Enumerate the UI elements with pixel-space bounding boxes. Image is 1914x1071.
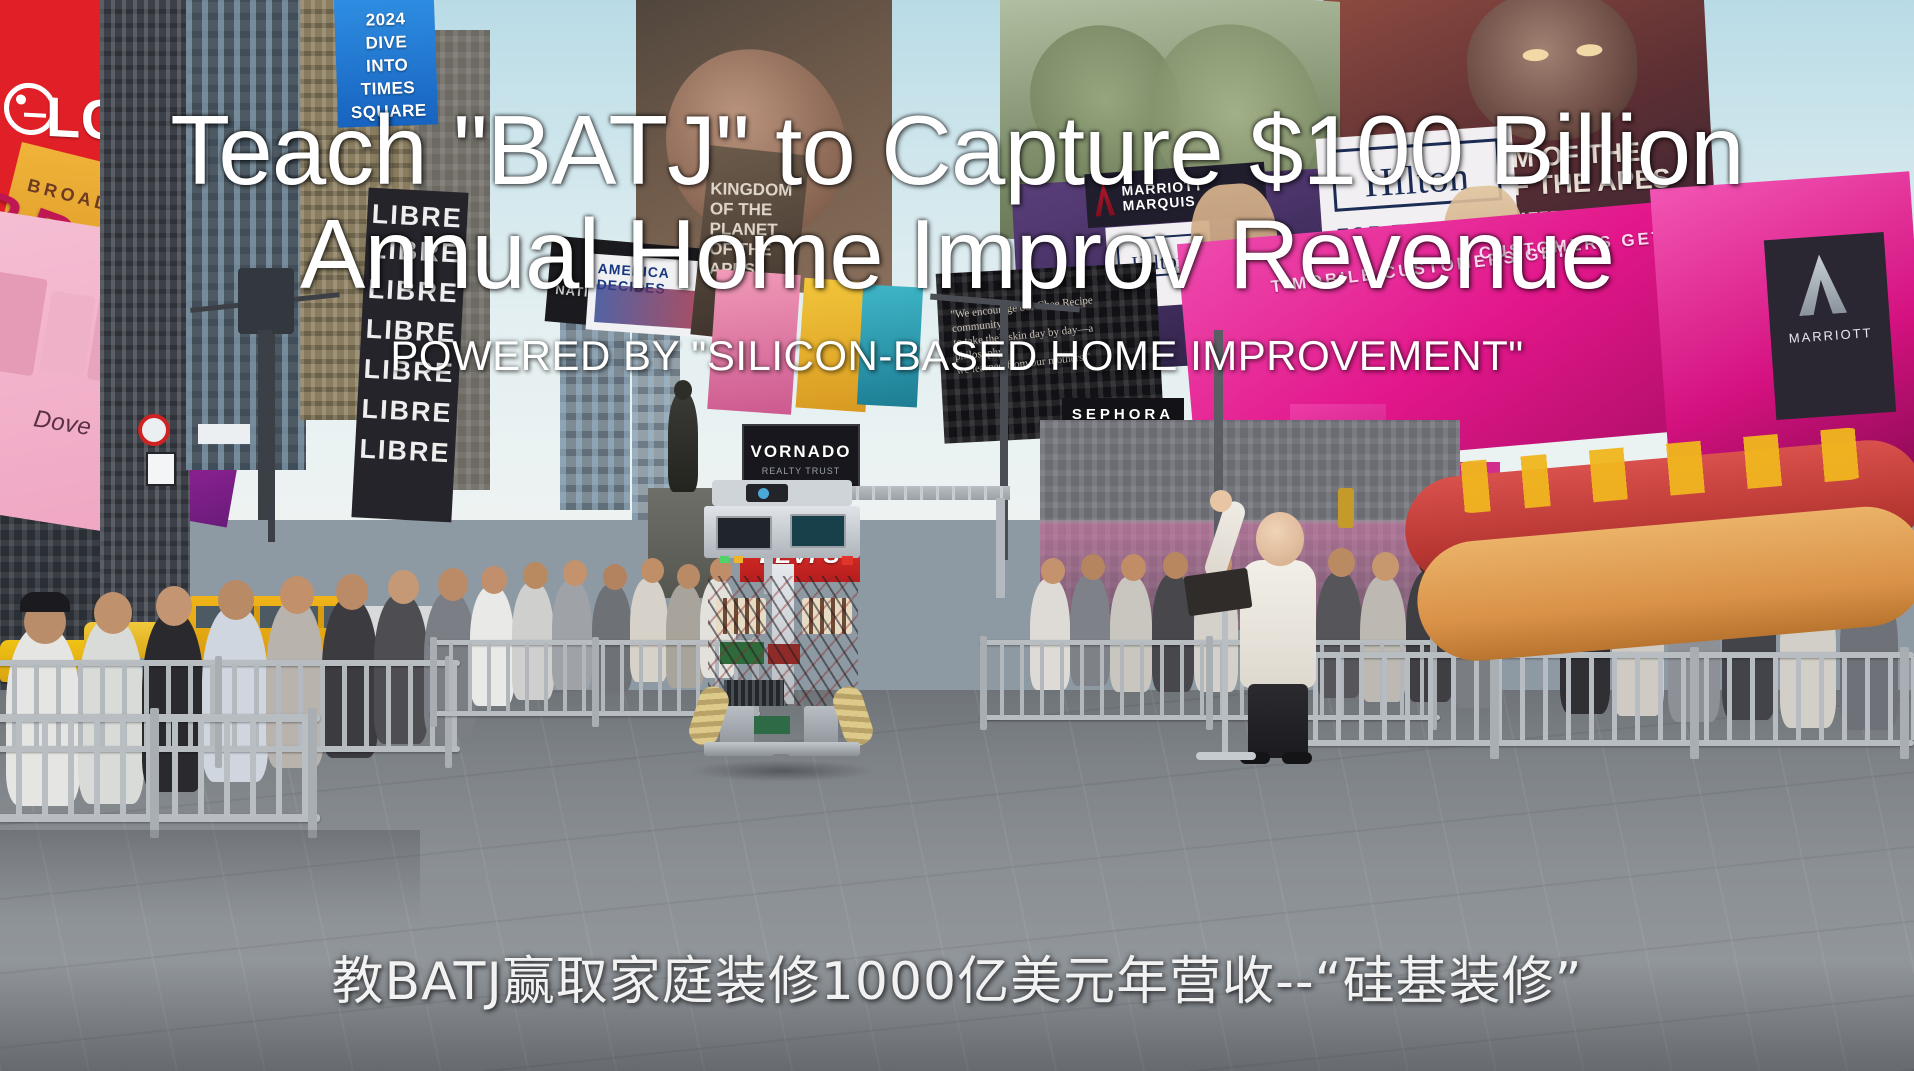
speed-limit-sign	[146, 452, 176, 486]
billboard-panel-pink	[707, 269, 801, 415]
traffic-light	[1338, 488, 1354, 528]
no-turn-sign-icon	[138, 414, 170, 446]
video-frame: LG BROADWAY BROADWAY Dove 2024 D	[0, 0, 1914, 1071]
times-square-photo: LG BROADWAY BROADWAY Dove 2024 D	[0, 0, 1914, 1071]
presenter-shoe-right	[1282, 752, 1312, 764]
marriott-logo-icon	[1093, 181, 1115, 216]
billboard-marriott-right: MARRIOTT	[1764, 232, 1896, 420]
billboard-panel-teal	[857, 285, 923, 408]
nypd-watchtower-pole	[258, 330, 272, 520]
truss-leg-right	[996, 498, 1005, 598]
statue-figure	[668, 392, 698, 492]
billboard-times-square-label: 2024 DIVE INTO TIMES SQUARE	[342, 6, 432, 124]
billboard-dove-label: Dove	[32, 405, 94, 442]
presenter-body	[1240, 560, 1316, 688]
building-glass-tower	[186, 0, 306, 470]
humanoid-robot	[690, 480, 870, 770]
billboard-times-square: 2024 DIVE INTO TIMES SQUARE	[334, 0, 439, 128]
billboard-libre: LIBRE LIBRE LIBRE LIBRE LIBRE LIBRE LIBR…	[351, 188, 468, 523]
robot-heatsink	[724, 680, 784, 706]
robot-screen-right	[790, 514, 846, 548]
stand-base	[1196, 752, 1256, 760]
plaza-shadow-left	[0, 830, 420, 920]
billboard-lg-label: LG	[46, 84, 106, 153]
marriott-right-logo-icon	[1795, 253, 1847, 316]
robot-status-led-green	[720, 556, 729, 563]
presenter-head	[1256, 512, 1304, 566]
statue-head	[674, 380, 692, 400]
building-mid-left	[100, 0, 190, 630]
cap-icon	[20, 592, 70, 612]
billboard-tmobile-label-right: CUSTOMERS GET	[1478, 228, 1666, 264]
billboard-vornado-label: VORNADO	[744, 442, 858, 462]
robot-shadow	[690, 760, 875, 782]
presenter-hand	[1210, 490, 1232, 512]
robot-status-led-red	[842, 556, 853, 565]
music-stand	[1222, 606, 1228, 756]
nypd-watchtower	[238, 268, 294, 334]
robot-screen-left	[716, 516, 772, 550]
presenter-legs	[1248, 684, 1308, 758]
hot-dog-sculpture	[1399, 416, 1914, 690]
one-way-sign	[198, 424, 250, 444]
plaza-shadow-bottom	[0, 960, 1914, 1071]
barricade-left-front	[0, 714, 320, 824]
billboard-libre-label: LIBRE	[366, 194, 468, 239]
robot-camera-icon	[758, 488, 769, 499]
robot-status-led-amber	[734, 556, 743, 563]
